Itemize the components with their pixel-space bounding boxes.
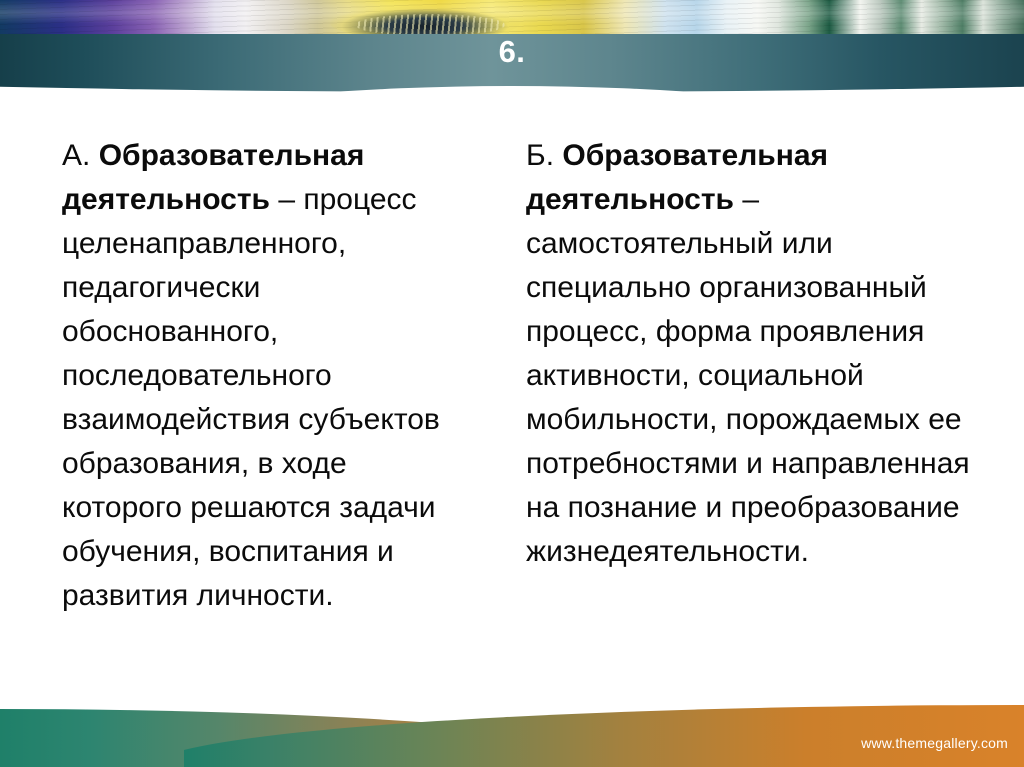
slide-body: А. Образовательная деятельность – процес… <box>0 134 1024 674</box>
definition-b: самостоятельный или специально организов… <box>526 227 970 568</box>
footer-website-url[interactable]: www.themegallery.com <box>861 735 1008 751</box>
slide-number: 6. <box>0 36 1024 67</box>
dash-b: – <box>742 183 759 216</box>
definition-a: процесс целенаправленного, педагогически… <box>62 183 440 612</box>
dash-a: – <box>278 183 295 216</box>
option-marker-b: Б. <box>526 139 554 172</box>
presentation-slide: 6. А. Образовательная деятельность – про… <box>0 0 1024 767</box>
definition-column-b: Б. Образовательная деятельность – самост… <box>468 134 988 674</box>
slide-header: 6. <box>0 0 1024 100</box>
photo-strip-swirl-lines <box>355 14 505 34</box>
definition-column-a: А. Образовательная деятельность – процес… <box>0 134 468 674</box>
header-photo-strip <box>0 0 1024 34</box>
option-marker-a: А. <box>62 139 90 172</box>
term-b: Образовательная деятельность <box>526 139 828 216</box>
slide-footer: www.themegallery.com <box>0 687 1024 767</box>
